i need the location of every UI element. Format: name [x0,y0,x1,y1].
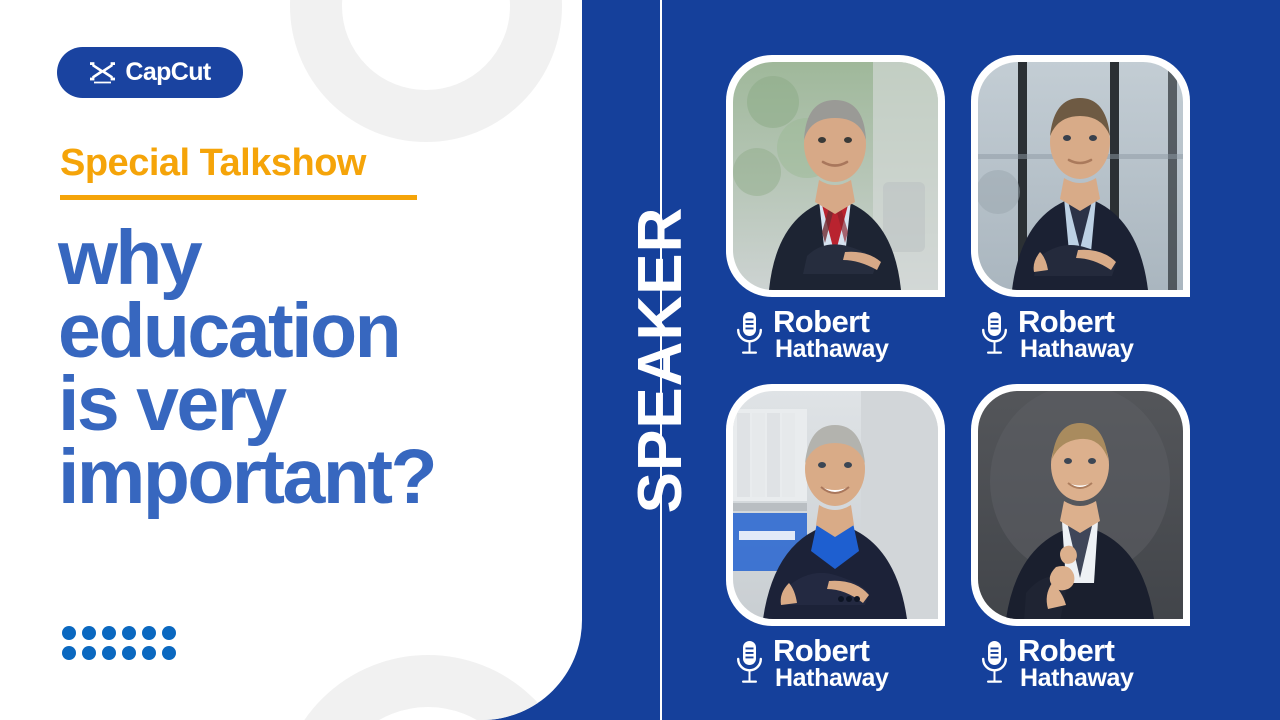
dot [82,626,96,640]
capcut-logo-icon [89,62,116,84]
eyebrow-block: Special Talkshow [60,144,417,200]
speaker-photo [733,391,938,619]
capcut-logo-badge[interactable]: CapCut [57,47,243,98]
eyebrow-text: Special Talkshow [60,144,417,182]
dot [142,646,156,660]
speaker-last-name: Hathaway [773,337,889,362]
decorative-ring-bottom [278,655,578,720]
speaker-first-name: Robert [773,306,889,337]
speaker-name: Robert Hathaway [1018,306,1134,362]
eyebrow-underline [60,195,417,200]
decorative-ring-top [290,0,562,142]
microphone-icon [736,310,763,355]
speaker-name: Robert Hathaway [1018,635,1134,691]
speaker-photo-frame [971,55,1190,297]
speaker-last-name: Hathaway [773,666,889,691]
headline-line-2: education [58,295,558,368]
speaker-last-name: Hathaway [1018,666,1134,691]
speaker-card[interactable]: Robert Hathaway [971,55,1197,362]
dot [62,646,76,660]
speaker-photo-frame [726,55,945,297]
microphone-icon [736,639,763,684]
dot [162,626,176,640]
speaker-photo-frame [726,384,945,626]
dot [122,626,136,640]
headline-line-1: why [58,222,558,295]
page-title: why education is very important? [58,222,558,515]
speaker-card[interactable]: Robert Hathaway [971,384,1197,691]
speaker-name-row: Robert Hathaway [971,635,1197,691]
speaker-card[interactable]: Robert Hathaway [726,384,952,691]
microphone-icon [981,639,1008,684]
speaker-last-name: Hathaway [1018,337,1134,362]
capcut-logo-text: CapCut [125,58,210,87]
speaker-grid: Robert Hathaway [726,55,1206,691]
speaker-card[interactable]: Robert Hathaway [726,55,952,362]
speaker-photo-frame [971,384,1190,626]
headline-line-3: is very [58,368,558,441]
speaker-first-name: Robert [1018,635,1134,666]
headline-line-4: important? [58,441,558,514]
dot [142,626,156,640]
dot [62,626,76,640]
dot [102,646,116,660]
speaker-section-label: SPEAKER [630,207,692,514]
speaker-photo [733,62,938,290]
decorative-dot-grid [62,626,179,663]
speaker-photo [978,62,1183,290]
speaker-name-row: Robert Hathaway [726,306,952,362]
speaker-name: Robert Hathaway [773,306,889,362]
microphone-icon [981,310,1008,355]
speaker-photo [978,391,1183,619]
dot [102,626,116,640]
speaker-name-row: Robert Hathaway [971,306,1197,362]
speaker-name-row: Robert Hathaway [726,635,952,691]
dot [122,646,136,660]
speaker-name: Robert Hathaway [773,635,889,691]
poster-canvas: CapCut Special Talkshow why education is… [0,0,1280,720]
dot [82,646,96,660]
dot [162,646,176,660]
speaker-first-name: Robert [773,635,889,666]
speaker-first-name: Robert [1018,306,1134,337]
